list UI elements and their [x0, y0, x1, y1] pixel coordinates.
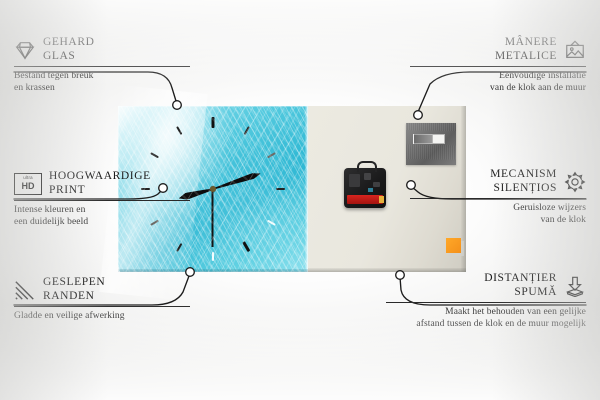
- clock-tick-12: [212, 117, 215, 128]
- callout-gehard-glas: GEHARD GLAS Bestand tegen breuk en krass…: [14, 36, 190, 94]
- callout-title-line-2: GLAS: [43, 50, 95, 64]
- clock-second-hand: [212, 189, 214, 247]
- callout-rule: [386, 302, 586, 303]
- callout-title-line-1: HOOGWAARDIGE: [49, 170, 151, 184]
- aa-battery: [347, 195, 383, 204]
- diamond-icon: [14, 39, 36, 61]
- ultra-hd-large-text: HD: [22, 182, 35, 191]
- clock-tick-4: [267, 220, 276, 226]
- clock-center-hub: [210, 186, 216, 192]
- clock-tick-11: [176, 126, 182, 135]
- callout-rule: [410, 198, 586, 199]
- clock-tick-3: [276, 188, 285, 190]
- callout-desc-line-2: van de klok aan de muur: [410, 82, 586, 94]
- clock-tick-7: [176, 243, 182, 252]
- callout-desc-line-1: Gladde en veilige afwerking: [14, 310, 190, 322]
- clock-tick-10: [150, 152, 159, 158]
- glass-bottom-shadow: [118, 269, 308, 272]
- callout-rule: [14, 66, 190, 67]
- callout-desc-line-1: Intense kleuren en: [14, 204, 190, 216]
- metal-hanger-plate: [406, 123, 456, 165]
- callout-distantier-spuma: DISTANȚIER SPUMĂ Maakt het behouden van …: [386, 272, 586, 330]
- callout-title-line-2: METALICE: [495, 50, 557, 64]
- hanger-slot: [413, 134, 445, 144]
- movement-block-4: [368, 188, 373, 192]
- clock-tick-1: [244, 126, 250, 135]
- quartz-clock-movement: [344, 168, 386, 208]
- callout-desc-line-1: Maakt het behouden van een gelijke: [386, 306, 586, 318]
- callout-manere-metalice: MÂNERE METALICE Eenvoudige installatie v…: [410, 36, 586, 94]
- callout-title-line-1: GESLEPEN: [43, 276, 105, 290]
- spacer-down-arrow-icon: [564, 275, 586, 297]
- picture-frame-icon: [564, 39, 586, 61]
- callout-desc-line-1: Eenvoudige installatie: [410, 70, 586, 82]
- clock-tick-6: [212, 252, 214, 261]
- infographic-canvas: GEHARD GLAS Bestand tegen breuk en krass…: [0, 0, 600, 400]
- callout-mecanism-silentios: MECANISM SILENȚIOS Geruisloze wijzers va…: [410, 168, 586, 226]
- callout-desc-line-2: een duidelijk beeld: [14, 216, 190, 228]
- callout-title-line-2: PRINT: [49, 184, 151, 198]
- callout-title-line-1: DISTANȚIER: [484, 272, 557, 286]
- clock-tick-5: [242, 241, 250, 252]
- callout-rule: [410, 66, 586, 67]
- movement-hanger-loop: [357, 161, 377, 172]
- callout-desc-line-2: afstand tussen de klok en de muur mogeli…: [386, 318, 586, 330]
- callout-hoogwaardige-print: ultra HD HOOGWAARDIGE PRINT Intense kleu…: [14, 170, 190, 228]
- movement-block-3: [373, 182, 380, 187]
- callout-desc-line-2: van de klok: [410, 214, 586, 226]
- callout-desc-line-2: en krassen: [14, 82, 190, 94]
- clock-tick-2: [267, 152, 276, 158]
- callout-rule: [14, 200, 190, 201]
- beveled-edge-lines-icon: [14, 279, 36, 301]
- callout-title-line-1: MÂNERE: [495, 36, 557, 50]
- callout-geslepen-randen: GESLEPEN RANDEN Gladde en veilige afwerk…: [14, 276, 190, 322]
- gear-icon: [564, 171, 586, 193]
- callout-desc-line-1: Bestand tegen breuk: [14, 70, 190, 82]
- callout-desc-line-1: Geruisloze wijzers: [410, 202, 586, 214]
- callout-title-line-1: MECANISM: [490, 168, 557, 182]
- callout-title-line-1: GEHARD: [43, 36, 95, 50]
- foam-spacer: [446, 238, 461, 253]
- callout-title-line-2: RANDEN: [43, 290, 105, 304]
- callout-title-line-2: SPUMĂ: [484, 286, 557, 300]
- ultra-hd-badge-icon: ultra HD: [14, 173, 42, 195]
- callout-title-line-2: SILENȚIOS: [490, 182, 557, 196]
- clock-minute-hand: [212, 171, 261, 192]
- movement-block-1: [349, 174, 360, 187]
- movement-block-2: [364, 173, 371, 180]
- callout-rule: [14, 306, 190, 307]
